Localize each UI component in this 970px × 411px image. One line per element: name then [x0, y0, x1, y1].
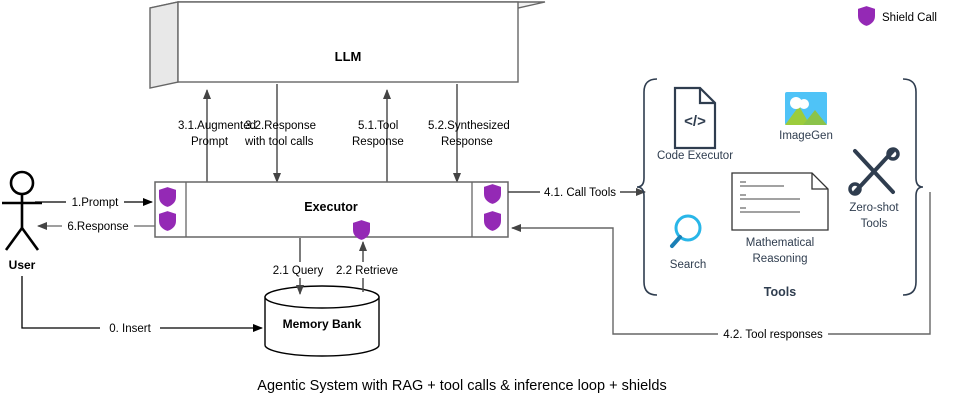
executor-label: Executor — [304, 200, 358, 214]
tool-label-math-line2: Reasoning — [753, 253, 808, 265]
tools-right-brace — [903, 79, 923, 295]
label-response: 6.Response — [67, 221, 128, 233]
legend-label: Shield Call — [882, 12, 937, 24]
wrench-head-1 — [888, 149, 898, 159]
user-head — [11, 172, 33, 194]
wrench-head-2 — [850, 184, 860, 194]
tool-mathematical-reasoning[interactable]: Mathematical Reasoning — [732, 173, 828, 265]
tool-zero-shot[interactable]: Zero-shot Tools — [849, 149, 899, 230]
tools-group-label: Tools — [764, 285, 796, 299]
user-leg-left — [6, 228, 22, 250]
user-label: User — [9, 258, 36, 272]
label-synthesized-response-line2: Response — [441, 136, 493, 148]
label-response-tool-calls-line1: 3.2.Response — [245, 120, 316, 132]
insert-connector: 0. Insert — [22, 276, 262, 336]
llm-label: LLM — [335, 49, 362, 64]
shield-icon-legend — [858, 6, 875, 26]
tool-label-zeroshot-line1: Zero-shot — [849, 202, 899, 214]
tool-label-zeroshot-line2: Tools — [861, 218, 888, 230]
memory-bank-node: Memory Bank — [265, 286, 379, 356]
user-leg-right — [22, 228, 38, 250]
legend-shield-call: Shield Call — [858, 6, 937, 26]
label-retrieve: 2.2 Retrieve — [336, 265, 398, 277]
user-actor — [2, 172, 42, 250]
memory-bank-label: Memory Bank — [283, 317, 362, 331]
formula-document-icon — [732, 173, 828, 230]
label-tool-responses: 4.2. Tool responses — [723, 329, 823, 341]
label-insert: 0. Insert — [109, 323, 151, 335]
tool-label-math-line1: Mathematical — [746, 237, 814, 249]
image-cloud-2 — [799, 99, 809, 109]
llm-cube-side — [150, 2, 178, 88]
label-synthesized-response-line1: 5.2.Synthesized — [428, 120, 510, 132]
tool-label-imagegen: ImageGen — [779, 130, 833, 142]
tool-label-search: Search — [670, 259, 706, 271]
tool-label-code-executor: Code Executor — [657, 150, 733, 162]
executor-node: Executor — [155, 182, 508, 240]
label-tool-response-line2: Response — [352, 136, 404, 148]
tool-code-executor[interactable]: </> Code Executor — [657, 88, 733, 162]
label-response-tool-calls-line2: with tool calls — [244, 136, 314, 148]
memory-cylinder-top — [265, 286, 379, 308]
llm-cube-face — [178, 2, 518, 82]
code-document-glyph: </> — [684, 113, 706, 130]
label-tool-response-line1: 5.1.Tool — [358, 120, 398, 132]
llm-node: LLM — [150, 2, 545, 88]
label-query: 2.1 Query — [273, 265, 324, 277]
user-executor-connectors: 1.Prompt 6.Response — [35, 194, 155, 234]
diagram-caption: Agentic System with RAG + tool calls & i… — [257, 378, 666, 394]
label-call-tools: 4.1. Call Tools — [544, 187, 616, 199]
llm-executor-connectors: 3.1.Augmented Prompt 3.2.Response with t… — [178, 84, 510, 187]
diagram-canvas: LLM 3.1.Augmented Prompt 3.2.Response wi… — [0, 0, 970, 411]
label-augmented-prompt-line2: Prompt — [191, 136, 229, 148]
tools-left-brace — [637, 79, 657, 295]
tool-search[interactable]: Search — [670, 216, 706, 271]
label-prompt: 1.Prompt — [72, 197, 119, 209]
tool-imagegen[interactable]: ImageGen — [779, 92, 833, 142]
magnifier-handle — [672, 237, 680, 246]
